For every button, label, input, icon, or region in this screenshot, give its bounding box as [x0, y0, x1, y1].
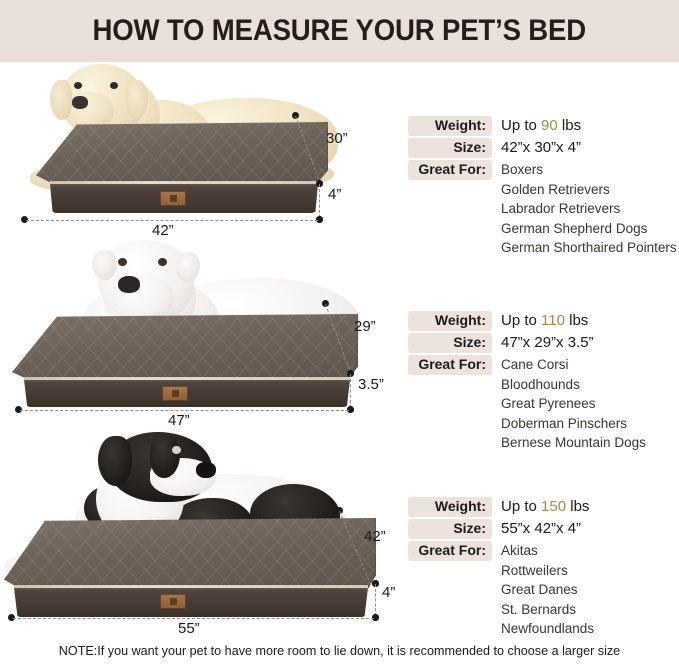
bed-top-surface	[36, 122, 328, 184]
dim-label-depth: 30”	[326, 130, 348, 147]
spec-line-size: Size: 55”x 42”x 4”	[408, 519, 594, 539]
bed-top-surface	[12, 314, 358, 380]
weight-prefix: Up to	[501, 498, 537, 515]
spec-line-great-for: Great For: Cane Corsi Bloodhounds Great …	[408, 355, 646, 453]
bed-illustration-large	[36, 122, 328, 214]
spec-label-weight: Weight:	[408, 497, 492, 517]
bed-top-surface	[4, 518, 376, 588]
spec-panel-xlarge: Weight: Up to 110 lbs Size: 47”x 29”x 3.…	[408, 311, 646, 455]
dim-line-width	[20, 410, 349, 411]
dog-eye-right	[158, 258, 167, 266]
breed-list: Cane Corsi Bloodhounds Great Pyrenees Do…	[492, 355, 646, 453]
spec-value-weight: Up to 90 lbs	[492, 116, 581, 135]
dim-label-width: 55”	[178, 620, 200, 637]
weight-unit: lbs	[562, 117, 581, 134]
dim-line-height	[319, 184, 320, 218]
breed-item: Bloodhounds	[501, 375, 646, 395]
spec-label-size: Size:	[408, 333, 492, 353]
dog-eye-left	[118, 258, 127, 266]
dim-line-width	[13, 618, 374, 619]
dim-line-height	[375, 584, 376, 616]
dog-ear-right	[176, 252, 200, 282]
dim-label-height: 4”	[382, 584, 395, 601]
breed-item: Labrador Retrievers	[501, 199, 677, 219]
breed-item: Great Danes	[501, 580, 594, 600]
spec-label-great-for: Great For:	[408, 160, 492, 180]
spec-value-size: 55”x 42”x 4”	[492, 519, 581, 538]
dim-label-depth: 42”	[364, 528, 386, 545]
spec-value-size: 42”x 30”x 4”	[492, 138, 581, 157]
dog-eye-left	[74, 82, 82, 89]
footer-note: NOTE:If you want your pet to have more r…	[0, 644, 679, 658]
spec-line-weight: Weight: Up to 110 lbs	[408, 311, 646, 331]
spec-value-weight: Up to 110 lbs	[492, 311, 588, 330]
spec-label-great-for: Great For:	[408, 541, 492, 561]
spec-panel-large: Weight: Up to 90 lbs Size: 42”x 30”x 4” …	[408, 116, 677, 260]
bed-piping	[24, 377, 350, 380]
dog-eye-right	[110, 82, 118, 89]
spec-panel-xxlarge: Weight: Up to 150 lbs Size: 55”x 42”x 4”…	[408, 497, 594, 641]
weight-unit: lbs	[569, 312, 588, 329]
spec-label-size: Size:	[408, 519, 492, 539]
breed-item: Great Pyrenees	[501, 394, 646, 414]
spec-label-great-for: Great For:	[408, 355, 492, 375]
header-band: HOW TO MEASURE YOUR PET’S BED	[0, 0, 679, 62]
spec-label-weight: Weight:	[408, 116, 492, 136]
dim-line-height	[350, 374, 351, 408]
weight-prefix: Up to	[501, 312, 537, 329]
dim-label-height: 3.5”	[358, 376, 384, 393]
breed-list: Akitas Rottweilers Great Danes St. Berna…	[492, 541, 594, 639]
breed-item: German Shepherd Dogs	[501, 219, 677, 239]
weight-number: 110	[541, 312, 565, 329]
breed-item: Akitas	[501, 541, 594, 561]
spec-line-great-for: Great For: Akitas Rottweilers Great Dane…	[408, 541, 594, 639]
weight-prefix: Up to	[501, 117, 537, 134]
brand-logo-patch	[160, 594, 186, 609]
spec-line-size: Size: 42”x 30”x 4”	[408, 138, 677, 158]
breed-item: Boxers	[501, 160, 677, 180]
weight-unit: lbs	[570, 498, 589, 515]
breed-item: Doberman Pinschers	[501, 414, 646, 434]
brand-logo-patch	[160, 191, 186, 206]
spec-line-size: Size: 47”x 29”x 3.5”	[408, 333, 646, 353]
breed-list: Boxers Golden Retrievers Labrador Retrie…	[492, 160, 677, 258]
breed-item: Bernese Mountain Dogs	[501, 433, 646, 453]
dim-label-width: 47”	[168, 412, 190, 429]
bed-side-panel	[14, 588, 368, 617]
dog-ear-left	[98, 436, 132, 486]
breed-item: St. Bernards	[501, 600, 594, 620]
dim-label-width: 42”	[152, 222, 174, 239]
dog-nose	[72, 96, 88, 109]
dog-nose	[118, 276, 140, 293]
dim-line-width	[26, 220, 318, 221]
dim-label-depth: 29”	[354, 318, 376, 335]
page-title: HOW TO MEASURE YOUR PET’S BED	[93, 14, 587, 48]
dog-nose	[196, 462, 216, 478]
bed-illustration-xlarge	[12, 314, 358, 408]
breed-item: Rottweilers	[501, 561, 594, 581]
spec-label-weight: Weight:	[408, 311, 492, 331]
dog-ear-left	[50, 80, 72, 120]
weight-number: 150	[541, 498, 566, 515]
bed-piping	[50, 181, 318, 184]
brand-logo-patch	[162, 386, 188, 401]
bed-piping	[14, 585, 368, 588]
breed-item: Cane Corsi	[501, 355, 646, 375]
dog-eye-right	[172, 446, 181, 454]
dog-ear-left	[92, 250, 116, 280]
weight-number: 90	[541, 117, 558, 134]
spec-value-size: 47”x 29”x 3.5”	[492, 333, 594, 352]
bed-illustration-xxlarge	[4, 518, 376, 618]
breed-item: Newfoundlands	[501, 619, 594, 639]
spec-line-weight: Weight: Up to 150 lbs	[408, 497, 594, 517]
breed-item: Golden Retrievers	[501, 180, 677, 200]
dim-label-height: 4”	[328, 186, 341, 203]
spec-label-size: Size:	[408, 138, 492, 158]
spec-line-great-for: Great For: Boxers Golden Retrievers Labr…	[408, 160, 677, 258]
spec-value-weight: Up to 150 lbs	[492, 497, 589, 516]
breed-item: German Shorthaired Pointers	[501, 238, 677, 258]
spec-line-weight: Weight: Up to 90 lbs	[408, 116, 677, 136]
